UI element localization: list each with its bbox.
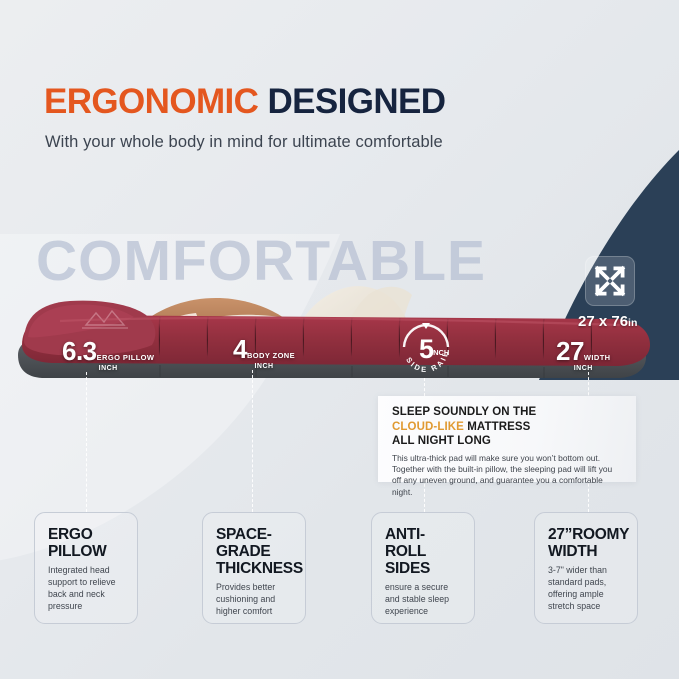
title-orange: ERGONOMIC — [44, 82, 258, 121]
card-body: ensure a secure and stable sleep experie… — [385, 581, 464, 617]
leader-line-2 — [252, 370, 253, 512]
page-subtitle: With your whole body in mind for ultimat… — [45, 133, 443, 152]
feature-card-anti-roll-sides[interactable]: ANTI-ROLL SIDES ensure a secure and stab… — [371, 512, 475, 624]
title-navy: DESIGNED — [267, 82, 445, 121]
callout-unit: INCH — [556, 365, 611, 372]
feature-card-roomy-width[interactable]: 27”ROOMY WIDTH 3-7" wider than standard … — [534, 512, 638, 624]
info-panel-title: SLEEP SOUNDLY ON THE CLOUD-LIKE MATTRESS… — [378, 396, 636, 449]
dimension-value: 27 x 76 — [578, 313, 628, 330]
callout-unit: INCH — [62, 365, 154, 372]
info-line-2-rest: MATTRESS — [467, 421, 530, 433]
callout-value: 27 — [556, 336, 584, 366]
card-body: 3-7" wider than standard pads, offering … — [548, 564, 627, 612]
callout-value: 4 — [233, 334, 247, 364]
feature-card-list: ERGO PILLOW Integrated head support to r… — [0, 512, 679, 637]
expand-arrows-icon — [585, 256, 635, 306]
card-title: SPACE-GRADE THICKNESS — [216, 526, 295, 577]
info-line-2: CLOUD-LIKE MATTRESS — [392, 420, 636, 435]
callout-side-rails: 5 INCH SIDE RAILS — [398, 320, 454, 376]
callout-ergo-pillow: 6.3ERGO PILLOW INCH — [62, 336, 154, 372]
feature-card-ergo-pillow[interactable]: ERGO PILLOW Integrated head support to r… — [34, 512, 138, 624]
card-body: Provides better cushioning and higher co… — [216, 581, 295, 617]
callout-body-zone: 4BODY ZONE INCH — [233, 334, 295, 370]
dimension-unit: in — [628, 317, 637, 329]
card-body: Integrated head support to relieve back … — [48, 564, 127, 612]
card-title: ANTI-ROLL SIDES — [385, 526, 464, 577]
info-accent: CLOUD-LIKE — [392, 421, 464, 433]
info-line-3: ALL NIGHT LONG — [392, 434, 636, 449]
infographic-page: ERGONOMIC DESIGNED With your whole body … — [0, 0, 679, 679]
info-panel: SLEEP SOUNDLY ON THE CLOUD-LIKE MATTRESS… — [378, 396, 636, 482]
card-title: ERGO PILLOW — [48, 526, 127, 560]
info-panel-body: This ultra-thick pad will make sure you … — [378, 449, 636, 499]
dimension-label: 27 x 76in — [578, 313, 637, 330]
callout-tag: WIDTH — [584, 353, 611, 362]
page-title: ERGONOMIC DESIGNED — [44, 82, 445, 122]
card-title: 27”ROOMY WIDTH — [548, 526, 627, 560]
callout-value: 6.3 — [62, 336, 97, 366]
feature-card-space-grade-thickness[interactable]: SPACE-GRADE THICKNESS Provides better cu… — [202, 512, 306, 624]
callout-width: 27WIDTH INCH — [556, 336, 611, 372]
callout-tag: BODY ZONE — [247, 351, 295, 360]
callout-tag: ERGO PILLOW — [97, 353, 155, 362]
leader-line-1 — [86, 372, 87, 512]
info-line-1: SLEEP SOUNDLY ON THE — [392, 405, 636, 420]
callout-unit: INCH — [233, 363, 295, 370]
product-scene — [0, 195, 679, 405]
